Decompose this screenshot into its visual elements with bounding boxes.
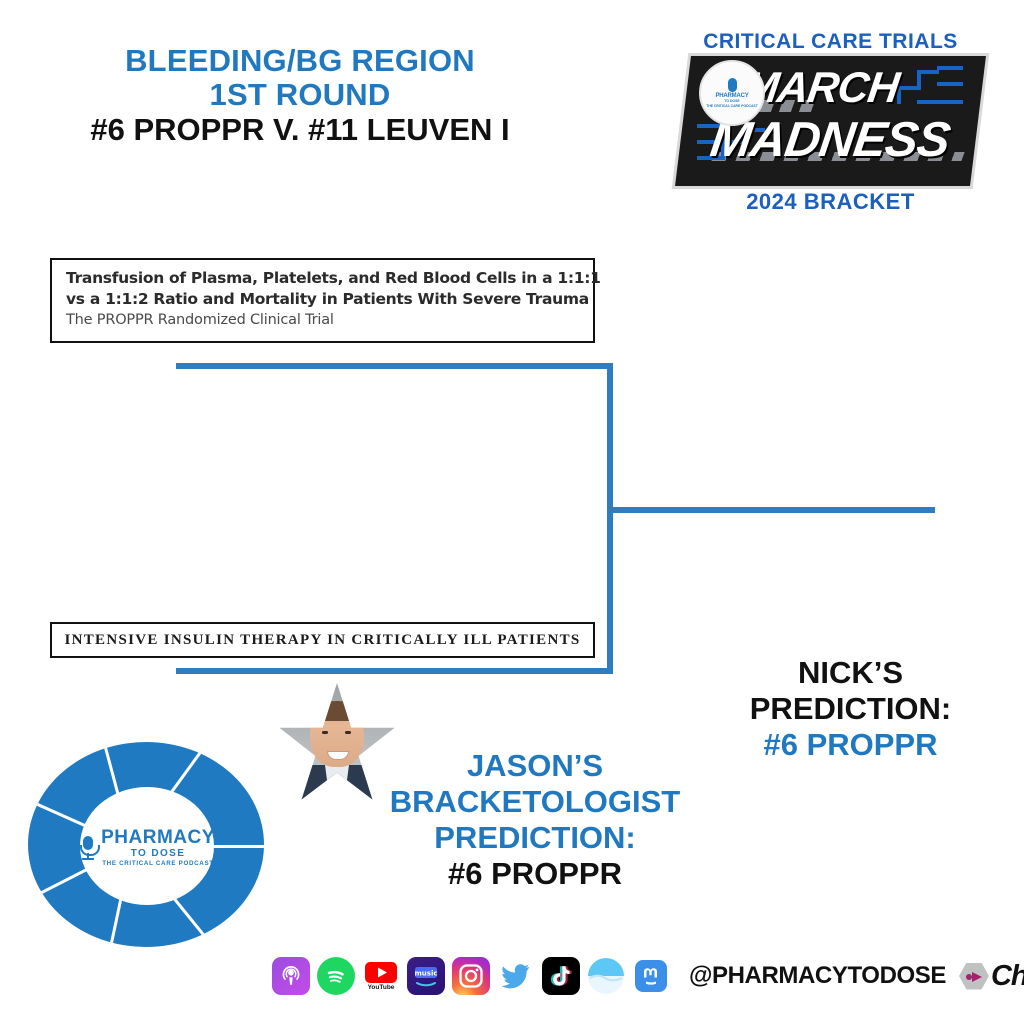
nick-prediction: NICK’S PREDICTION: #6 PROPPR (703, 655, 998, 763)
bracket-line-top (176, 363, 613, 369)
avatar-hair (310, 701, 364, 721)
logo-core: PHARMACY TO DOSE THE CRITICAL CARE PODCA… (80, 787, 214, 905)
jason-prediction-line-1: JASON’S (330, 748, 740, 784)
apple-podcasts-icon[interactable] (272, 957, 310, 995)
instagram-icon[interactable] (452, 957, 490, 995)
jason-prediction: JASON’S BRACKETOLOGIST PREDICTION: #6 PR… (330, 748, 740, 892)
podcast-badge-icon: PHARMACY TO DOSE THE CRITICAL CARE PODCA… (699, 60, 765, 126)
trial-title-line-2: vs a 1:1:2 Ratio and Mortality in Patien… (66, 289, 579, 310)
mastodon-icon[interactable] (632, 957, 670, 995)
bracket-line-winner-stem (607, 507, 935, 513)
microphone-icon (728, 78, 737, 92)
march-madness-logo: CRITICAL CARE TRIALS (673, 30, 988, 215)
pharmacy-to-dose-logo: PHARMACY TO DOSE THE CRITICAL CARE PODCA… (28, 742, 273, 952)
jason-prediction-line-2: BRACKETOLOGIST (330, 784, 740, 820)
nick-prediction-line-2: PREDICTION: (703, 691, 998, 727)
brand-tagline: THE CRITICAL CARE PODCAST (101, 861, 215, 867)
logo-inner: MARCH MADNESS PHARMACY TO DOSE THE CRITI… (683, 56, 978, 186)
avatar-eye-left (322, 731, 328, 734)
svg-text:music: music (415, 970, 438, 978)
nick-prediction-line-1: NICK’S (703, 655, 998, 691)
page-title: BLEEDING/BG REGION 1ST ROUND #6 PROPPR V… (0, 44, 600, 148)
matchup-label: #6 PROPPR V. #11 LEUVEN I (0, 112, 600, 148)
chiesi-hex-icon (959, 963, 989, 990)
trial-title-line-1: Transfusion of Plasma, Platelets, and Re… (66, 268, 579, 289)
trial-subtitle: The PROPPR Randomized Clinical Trial (66, 310, 579, 331)
chiesi-wordmark: Chiesi (991, 960, 1024, 993)
trial-title: INTENSIVE INSULIN THERAPY IN CRITICALLY … (64, 632, 580, 649)
chiesi-sponsor-logo: Chiesi (959, 960, 1024, 993)
social-links-bar: YouTube music @PHARMACYTODOSE Chiesi (272, 953, 1024, 999)
badge-tagline: THE CRITICAL CARE PODCAST (706, 104, 758, 109)
microphone-icon (79, 835, 97, 861)
trial-card-leuven-i[interactable]: INTENSIVE INSULIN THERAPY IN CRITICALLY … (50, 622, 595, 658)
region-label: BLEEDING/BG REGION (0, 44, 600, 78)
trial-card-proppr[interactable]: Transfusion of Plasma, Platelets, and Re… (50, 258, 595, 343)
brand-name: PHARMACY (101, 828, 215, 847)
tiktok-icon[interactable] (542, 957, 580, 995)
social-handle: @PHARMACYTODOSE (689, 962, 946, 990)
bracket-graphic: BLEEDING/BG REGION 1ST ROUND #6 PROPPR V… (0, 0, 1024, 1024)
brand-subname: TO DOSE (101, 849, 215, 859)
bluesky-icon[interactable] (587, 957, 625, 995)
logo-bottom-text: 2024 BRACKET (673, 189, 988, 215)
bracket-glyph-right-icon (897, 66, 967, 112)
jason-prediction-line-3: PREDICTION: (330, 820, 740, 856)
youtube-icon[interactable]: YouTube (362, 957, 400, 995)
logo-top-text: CRITICAL CARE TRIALS (673, 30, 988, 54)
round-label: 1ST ROUND (0, 78, 600, 112)
bracket-line-vertical (607, 363, 613, 674)
bracket-line-bottom (176, 668, 613, 674)
spotify-icon[interactable] (317, 957, 355, 995)
avatar-eye-right (345, 731, 351, 734)
nick-prediction-winner: #6 PROPPR (703, 727, 998, 763)
twitter-icon[interactable] (497, 957, 535, 995)
amazon-music-icon[interactable]: music (407, 957, 445, 995)
jason-prediction-winner: #6 PROPPR (330, 856, 740, 892)
